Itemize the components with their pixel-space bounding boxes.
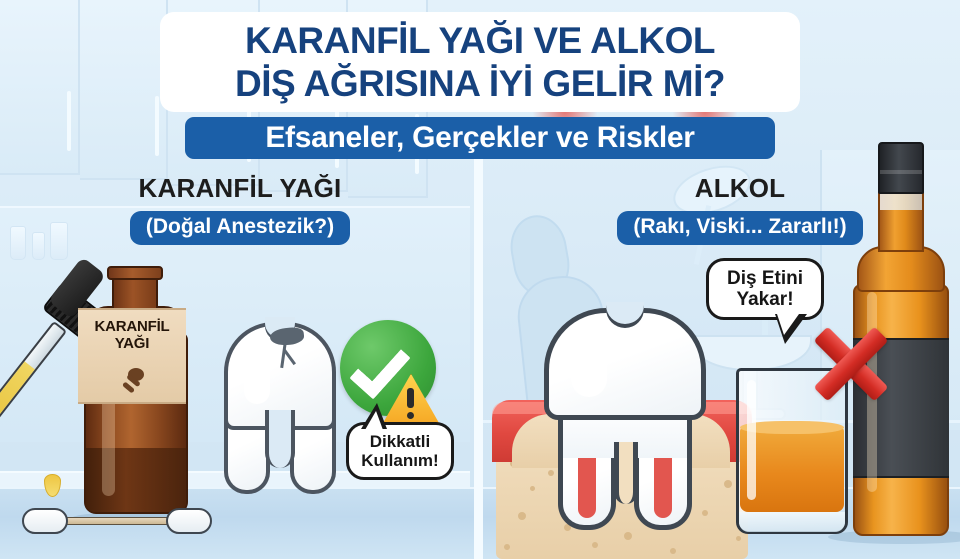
swab-tip: [166, 508, 212, 534]
cabinet-door: [80, 0, 168, 180]
page-title-line2: DİŞ AĞRISINA İYİ GELİR Mİ?: [235, 65, 725, 102]
bottle-label: KARANFİL YAĞI: [78, 308, 186, 404]
clove-oil-bottle-icon: KARANFİL YAĞI: [80, 272, 192, 520]
exclamation-bar: [407, 388, 414, 408]
root-canal: [578, 458, 596, 518]
cabinet-door: [0, 0, 80, 175]
glass-base: [739, 512, 845, 532]
page-title-line1: KARANFİL YAĞI VE ALKOL: [245, 22, 715, 59]
right-bubble-line1: Diş Etini: [727, 268, 803, 289]
right-section-pill: (Rakı, Viski... Zararlı!): [617, 211, 862, 245]
red-x-icon: [800, 312, 900, 412]
left-speech-bubble: Dikkatli Kullanım!: [346, 422, 454, 480]
swab-stick: [52, 517, 184, 525]
glass-highlight: [747, 380, 756, 500]
left-section-pill: (Doğal Anestezik?): [130, 211, 350, 245]
infographic-canvas: KARANFİL YAĞI VE ALKOL DİŞ AĞRISINA İYİ …: [0, 0, 960, 559]
right-section-title: ALKOL: [560, 173, 920, 204]
title-card: KARANFİL YAĞI VE ALKOL DİŞ AĞRISINA İYİ …: [160, 12, 800, 112]
left-section-header: KARANFİL YAĞI (Doğal Anestezik?): [60, 173, 420, 245]
section-divider: [474, 150, 483, 559]
bottle-rim: [107, 266, 163, 280]
tooth-highlight: [244, 348, 270, 404]
right-section-header: ALKOL (Rakı, Viski... Zararlı!): [560, 173, 920, 245]
left-bubble-line2: Kullanım!: [361, 451, 438, 470]
right-bubble-line2: Yakar!: [736, 289, 793, 310]
tooth-root-gap: [614, 442, 638, 504]
left-section-title: KARANFİL YAĞI: [60, 173, 420, 204]
right-speech-bubble: Diş Etini Yakar!: [706, 258, 824, 320]
exclamation-dot: [407, 412, 414, 419]
bottle-liquid: [86, 448, 186, 512]
inflamed-gum-tooth-icon: [544, 308, 706, 530]
right-bubble-text: Diş Etini Yakar!: [727, 268, 803, 311]
swab-tip: [22, 508, 68, 534]
shelf-bottle-icon: [10, 226, 26, 260]
root-canal: [654, 458, 672, 518]
subtitle-band: Efsaneler, Gerçekler ve Riskler: [185, 117, 775, 159]
shelf-bottle-icon: [32, 232, 45, 260]
left-bubble-line1: Dikkatli: [370, 432, 430, 451]
subtitle-text: Efsaneler, Gerçekler ve Riskler: [265, 121, 694, 155]
tooth-highlight: [571, 335, 607, 397]
left-bubble-text: Dikkatli Kullanım!: [361, 432, 438, 470]
cotton-swab-icon: [22, 508, 212, 534]
bottle-label-line1: KARANFİL: [94, 319, 169, 336]
whiskey-bottle-shoulder: [857, 246, 945, 292]
bottle-label-line2: YAĞI: [115, 336, 150, 353]
tooth-root-gap: [265, 410, 295, 468]
clove-icon: [124, 368, 146, 398]
tooth-with-cavity-icon: [224, 322, 336, 494]
